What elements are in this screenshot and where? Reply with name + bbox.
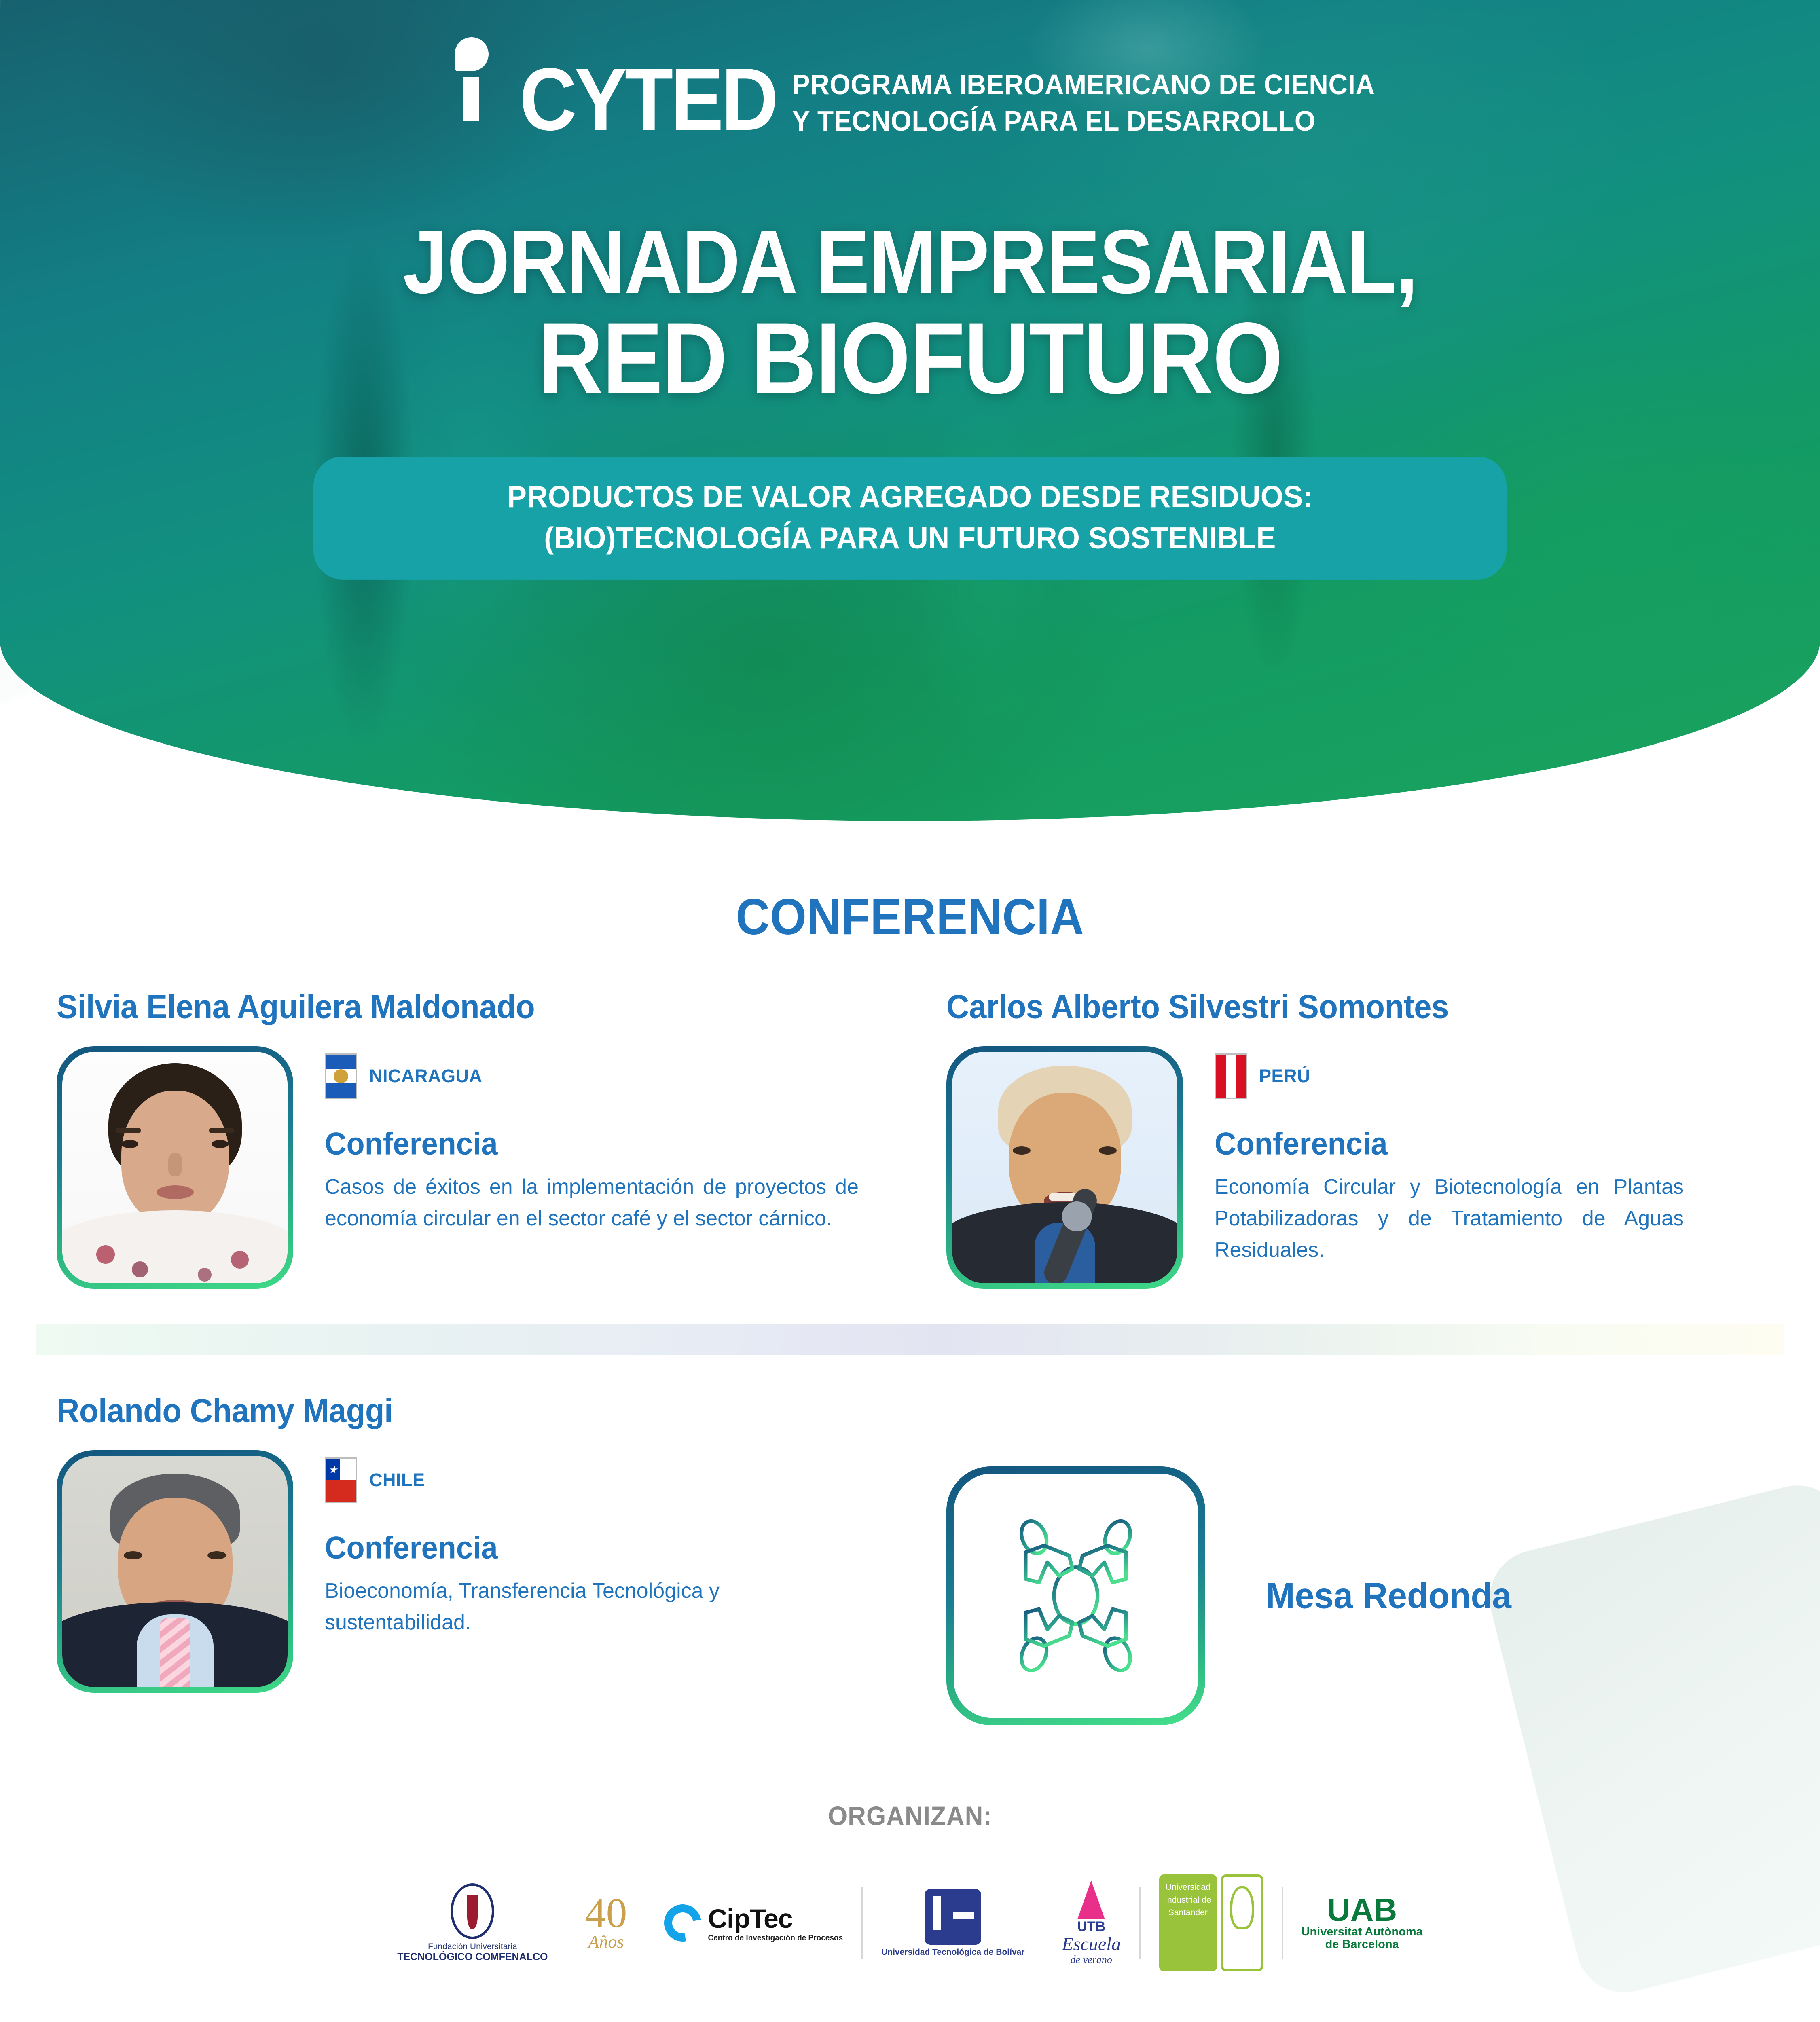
utb-caption: Universidad Tecnológica de Bolívar xyxy=(881,1948,1024,1957)
peru-flag-icon xyxy=(1215,1053,1247,1099)
logo-utb: Universidad Tecnológica de Bolívar xyxy=(863,1874,1043,1971)
organizan-logo-row: Fundación Universitaria TECNOLÓGICO COMF… xyxy=(0,1874,1820,1971)
ciptec-swoosh-icon xyxy=(657,1897,709,1949)
speaker-country: NICARAGUA xyxy=(325,1053,870,1099)
cyted-wordmark: CYTED xyxy=(519,61,776,138)
talk-title: Casos de éxitos en la implementación de … xyxy=(325,1171,859,1234)
title-line-2: RED BIOFUTURO xyxy=(0,306,1820,411)
poster-header: CYTED PROGRAMA IBEROAMERICANO DE CIENCIA… xyxy=(0,0,1820,821)
speaker-portrait xyxy=(62,1052,288,1283)
comfenalco-seal-icon xyxy=(451,1883,494,1939)
comfenalco-line2: TECNOLÓGICO COMFENALCO xyxy=(397,1952,548,1963)
uis-emblem-icon xyxy=(1221,1874,1263,1971)
speaker-name: Carlos Alberto Silvestri Somontes xyxy=(946,987,1739,1026)
comfenalco-line1: Fundación Universitaria xyxy=(428,1942,517,1952)
organizan-heading: ORGANIZAN: xyxy=(0,1801,1820,1832)
ciptec-tagline: Centro de Investigación de Procesos xyxy=(708,1934,843,1943)
uab-line1: Universitat Autònoma xyxy=(1302,1926,1423,1938)
talk-type-label: Conferencia xyxy=(325,1125,870,1161)
nicaragua-flag-icon xyxy=(325,1053,357,1099)
conferencia-heading: CONFERENCIA xyxy=(0,888,1820,946)
talk-type-label: Conferencia xyxy=(1215,1125,1739,1161)
escuela-verano-line1: UTB xyxy=(1077,1919,1105,1934)
cyted-tagline: PROGRAMA IBEROAMERICANO DE CIENCIA Y TEC… xyxy=(790,61,1375,138)
speaker-card-silvia: Silvia Elena Aguilera Maldonado xyxy=(0,988,870,1289)
cyted-tagline-line2: Y TECNOLOGÍA PARA EL DESARROLLO xyxy=(792,103,1375,139)
subtitle-line-1: PRODUCTOS DE VALOR AGREGADO DESDE RESIDU… xyxy=(338,477,1482,518)
talk-title: Economía Circular y Biotecnología en Pla… xyxy=(1215,1171,1684,1266)
country-label: PERÚ xyxy=(1259,1066,1310,1087)
mesa-redonda-label: Mesa Redonda xyxy=(1266,1575,1511,1617)
logo-ciptec: CipTec Centro de Investigación de Proces… xyxy=(645,1874,861,1971)
logo-40-anos: 40 Años xyxy=(566,1874,645,1971)
mesa-redonda-frame xyxy=(946,1466,1205,1725)
speaker-row: Silvia Elena Aguilera Maldonado xyxy=(0,988,1820,1289)
speaker-name: Silvia Elena Aguilera Maldonado xyxy=(57,987,870,1026)
speaker-name: Rolando Chamy Maggi xyxy=(57,1391,870,1430)
escuela-verano-line3: de verano xyxy=(1071,1954,1112,1965)
title-line-1: JORNADA EMPRESARIAL, xyxy=(0,217,1820,307)
utb-mark-icon xyxy=(925,1889,981,1945)
section-divider xyxy=(36,1324,1784,1355)
logo-comfenalco: Fundación Universitaria TECNOLÓGICO COMF… xyxy=(379,1874,566,1971)
subtitle-line-2: (BIO)TECNOLOGÍA PARA UN FUTURO SOSTENIBL… xyxy=(338,518,1482,559)
anniversary-number: 40 xyxy=(585,1894,627,1932)
uis-line3: Santander xyxy=(1165,1906,1211,1919)
cyted-logo: CYTED PROGRAMA IBEROAMERICANO DE CIENCIA… xyxy=(0,0,1820,164)
uis-line2: Industrial de xyxy=(1165,1894,1211,1907)
page-title: JORNADA EMPRESARIAL, RED BIOFUTURO xyxy=(0,222,1820,406)
escuela-verano-line2: Escuela xyxy=(1062,1934,1121,1954)
escuela-verano-leaves-icon xyxy=(1077,1880,1105,1919)
logo-uab: UAB Universitat Autònoma de Barcelona xyxy=(1283,1874,1441,1971)
uab-acronym: UAB xyxy=(1327,1895,1397,1926)
roundtable-people-icon xyxy=(991,1509,1161,1683)
logo-uis: Universidad Industrial de Santander xyxy=(1141,1874,1281,1971)
logo-utb-escuela-verano: UTB Escuela de verano xyxy=(1043,1874,1139,1971)
speaker-portrait xyxy=(952,1052,1177,1283)
speaker-card-carlos: Carlos Alberto Silvestri Somontes xyxy=(870,988,1739,1289)
organizan-section: ORGANIZAN: Fundación Universitaria TECNO… xyxy=(0,1802,1820,1971)
cyted-mark-icon xyxy=(445,35,506,164)
cyted-tagline-line1: PROGRAMA IBEROAMERICANO DE CIENCIA xyxy=(792,66,1375,102)
uab-line2: de Barcelona xyxy=(1325,1938,1399,1951)
speaker-photo-frame xyxy=(946,1046,1183,1289)
subtitle-banner: PRODUCTOS DE VALOR AGREGADO DESDE RESIDU… xyxy=(313,457,1507,579)
country-label: NICARAGUA xyxy=(369,1066,483,1087)
speaker-photo-frame xyxy=(57,1046,293,1289)
speakers-section: Silvia Elena Aguilera Maldonado xyxy=(0,988,1820,1725)
mesa-redonda-card: Mesa Redonda xyxy=(0,1466,1820,1725)
anniversary-word: Años xyxy=(588,1932,624,1952)
ciptec-wordmark: CipTec xyxy=(708,1903,843,1934)
speaker-country: PERÚ xyxy=(1215,1053,1739,1099)
uis-line1: Universidad xyxy=(1165,1881,1211,1894)
